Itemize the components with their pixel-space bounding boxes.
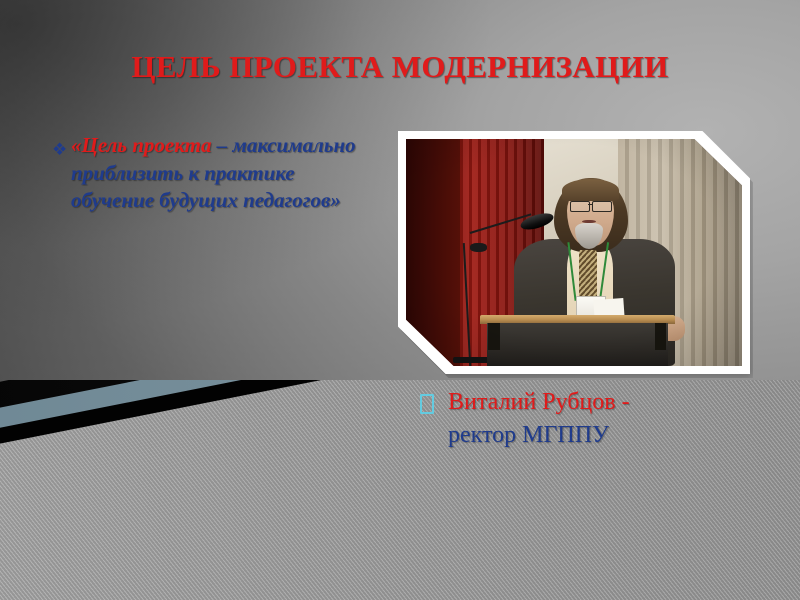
photo-frame xyxy=(398,131,750,374)
quote-highlight: «Цель проекта xyxy=(71,133,211,157)
photo-vignette xyxy=(406,139,742,366)
caption-text: Виталий Рубцов -ректор МГППУ xyxy=(448,386,750,452)
page-title: ЦЕЛЬ ПРОЕКТА МОДЕРНИЗАЦИИ xyxy=(0,50,800,84)
caption-role: ректор МГППУ xyxy=(448,422,609,448)
slide-canvas: ЦЕЛЬ ПРОЕКТА МОДЕРНИЗАЦИИ ❖ «Цель проект… xyxy=(0,0,800,600)
square-bullet-icon xyxy=(420,394,434,414)
quote-text: «Цель проекта – максимально приблизить к… xyxy=(71,132,382,215)
diamond-bullet-icon: ❖ xyxy=(52,141,70,158)
caption-name: Виталий Рубцов - xyxy=(448,389,630,415)
photo-image xyxy=(406,139,742,366)
body-text-block: ❖ «Цель проекта – максимально приблизить… xyxy=(52,132,382,215)
photo-caption: Виталий Рубцов -ректор МГППУ xyxy=(420,386,750,452)
list-item: ❖ «Цель проекта – максимально приблизить… xyxy=(52,132,382,215)
